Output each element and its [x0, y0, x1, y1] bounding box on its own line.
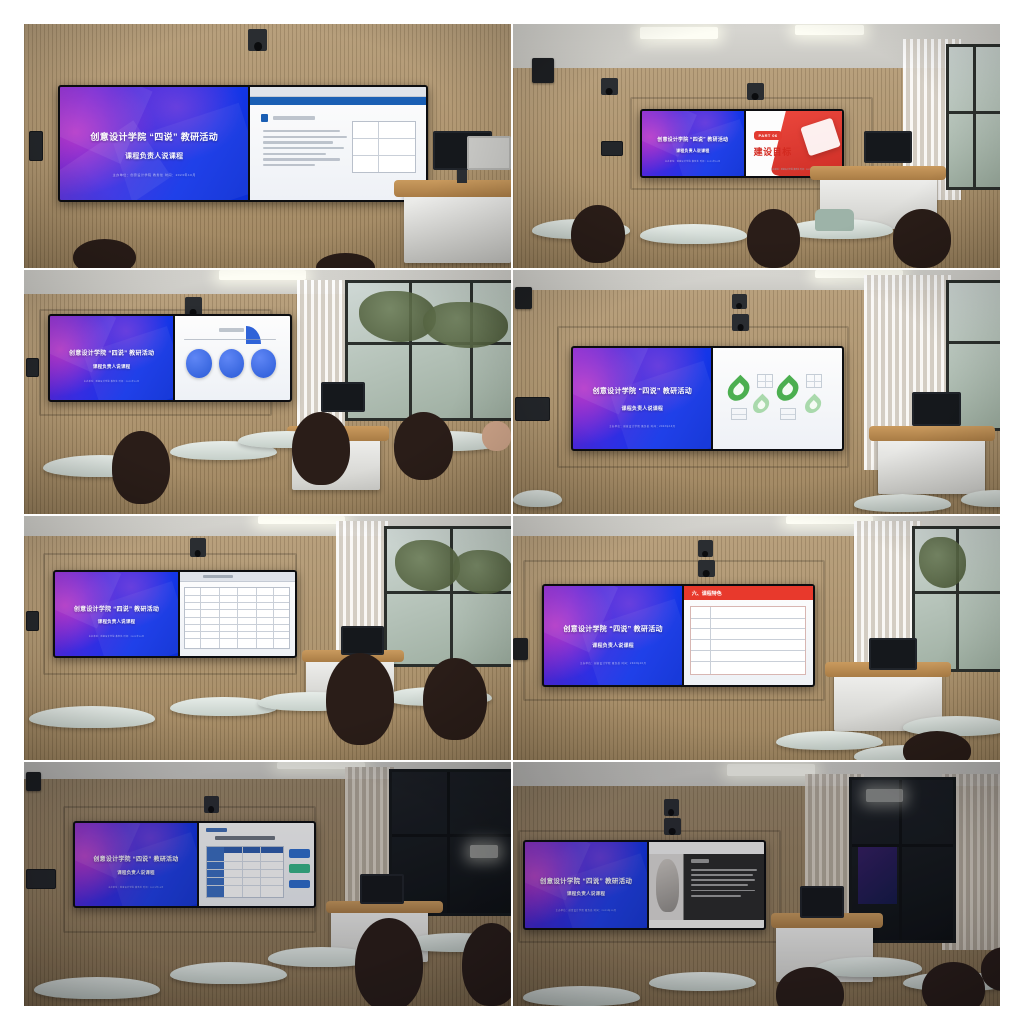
part-badge: PART 06 — [754, 131, 783, 140]
audience-head — [462, 923, 511, 1006]
photo-tile-5[interactable]: 创意设计学院 “四说” 教研活动 课程负责人说课程 主办单位：创意设计学院 教务… — [24, 516, 511, 760]
slide-subheading: 课程负责人说课程 — [642, 148, 744, 154]
podium-top — [394, 180, 511, 197]
ceiling-light-icon — [640, 27, 718, 39]
camera-icon — [664, 818, 681, 835]
wall-control-panel — [29, 131, 44, 160]
slide-footnote: 主办单位：创意设计学院 教务处 时间：2023年10月 — [544, 661, 682, 665]
slide-heading: 创意设计学院 “四说” 教研活动 — [55, 604, 178, 613]
display-wall[interactable]: 创意设计学院 “四说” 教研活动 课程负责人说课程 主办单位：创意设计学院 教务… — [542, 584, 815, 686]
display-panel-left[interactable]: 创意设计学院 “四说” 教研活动 课程负责人说课程 主办单位：创意设计学院 教务… — [573, 348, 713, 449]
wall-control-panel — [26, 869, 55, 889]
slide-heading: 创意设计学院 “四说” 教研活动 — [642, 136, 744, 143]
window — [389, 769, 511, 915]
slide-heading: 创意设计学院 “四说” 教研活动 — [544, 624, 682, 634]
student-desk — [513, 490, 562, 507]
camera-icon — [248, 29, 267, 51]
window — [345, 280, 511, 422]
podium-monitor[interactable] — [912, 392, 961, 426]
ceiling-light-icon — [219, 270, 307, 280]
student-desk — [29, 706, 156, 728]
slide-pill — [289, 864, 310, 872]
podium-monitor[interactable] — [321, 382, 365, 411]
slide-pill — [289, 880, 310, 888]
slide-heading: 创意设计学院 “四说” 教研活动 — [525, 875, 648, 885]
display-wall[interactable]: 创意设计学院 “四说” 教研活动 课程负责人说课程 主办单位：创意设计学院 教务… — [571, 346, 844, 451]
section-heading: 六、课程特色 — [684, 586, 813, 600]
wall-speaker — [515, 287, 532, 309]
camera-icon — [190, 538, 207, 558]
secondary-monitor[interactable] — [467, 136, 511, 170]
audience-head — [423, 658, 486, 741]
student-desk — [854, 494, 951, 511]
title-slide: 创意设计学院 “四说” 教研活动 课程负责人说课程 主办单位：创意设计学院 教务… — [573, 348, 711, 449]
podium-monitor[interactable] — [869, 638, 918, 670]
photo-tile-4[interactable]: 创意设计学院 “四说” 教研活动 课程负责人说课程 主办单位：创意设计学院 教务… — [513, 270, 1000, 514]
slide-heading: 创意设计学院 “四说” 教研活动 — [60, 130, 248, 143]
audience-head — [394, 412, 452, 480]
slide-heading: 创意设计学院 “四说” 教研活动 — [50, 348, 173, 357]
window — [912, 526, 1000, 672]
display-panel-left[interactable]: 创意设计学院 “四说” 教研活动 课程负责人说课程 主办单位：创意设计学院 教务… — [50, 316, 175, 400]
slide-subheading: 课程负责人说课程 — [573, 405, 711, 412]
slide-footnote: 主办单位：创意设计学院 教务处 时间：2023年10月 — [573, 424, 711, 428]
camera-icon — [698, 540, 713, 557]
student-desk — [649, 972, 756, 992]
photo-tile-2[interactable]: 创意设计学院 “四说” 教研活动 课程负责人说课程 主办单位：创意设计学院 教务… — [513, 24, 1000, 268]
display-panel-left[interactable]: 创意设计学院 “四说” 教研活动 课程负责人说课程 主办单位：创意设计学院 教务… — [642, 111, 746, 175]
display-panel-right[interactable]: 六、课程特色 — [684, 586, 813, 684]
podium — [404, 190, 511, 263]
title-slide: 创意设计学院 “四说” 教研活动 课程负责人说课程 主办单位：创意设计学院 教务… — [55, 572, 178, 656]
display-panel-left[interactable]: 创意设计学院 “四说” 教研活动 课程负责人说课程 主办单位：创意设计学院 教务… — [525, 842, 650, 928]
table-slide — [180, 572, 295, 656]
circles-slide — [175, 316, 290, 400]
slide-subheading: 课程负责人说课程 — [55, 619, 178, 625]
ceiling-light-icon — [258, 516, 346, 524]
audience-head — [893, 209, 951, 268]
student-desk — [640, 224, 747, 244]
display-panel-right[interactable] — [713, 348, 842, 449]
podium-monitor[interactable] — [341, 626, 385, 655]
display-panel-right[interactable] — [175, 316, 290, 400]
window — [384, 526, 511, 668]
audience-head — [292, 412, 350, 485]
title-slide: 创意设计学院 “四说” 教研活动 课程负责人说课程 主办单位：创意设计学院 教务… — [642, 111, 744, 175]
camera-icon — [698, 560, 715, 577]
title-slide: 创意设计学院 “四说” 教研活动 课程负责人说课程 主办单位：创意设计学院 教务… — [525, 842, 648, 928]
display-panel-left[interactable]: 创意设计学院 “四说” 教研活动 课程负责人说课程 主办单位：创意设计学院 教务… — [75, 823, 200, 907]
podium-top — [810, 166, 946, 181]
photo-tile-8[interactable]: 创意设计学院 “四说” 教研活动 课程负责人说课程 主办单位：创意设计学院 教务… — [513, 762, 1000, 1006]
slide-subheading: 课程负责人说课程 — [50, 364, 173, 370]
slide-footnote: 主办单位：创意设计学院 教务处 时间：2023年10月 — [75, 886, 198, 889]
display-panel-right[interactable] — [199, 823, 314, 907]
student-desk — [34, 977, 161, 999]
wall-control-panel — [26, 358, 38, 378]
slide-heading: 创意设计学院 “四说” 教研活动 — [573, 386, 711, 396]
slide-subheading: 课程负责人说课程 — [525, 891, 648, 897]
title-slide: 创意设计学院 “四说” 教研活动 课程负责人说课程 主办单位：创意设计学院 教务… — [50, 316, 173, 400]
display-wall[interactable]: 创意设计学院 “四说” 教研活动 课程负责人说课程 主办单位：创意设计学院 教务… — [53, 570, 297, 658]
camera-icon — [664, 799, 679, 816]
podium-monitor[interactable] — [864, 131, 913, 163]
display-wall[interactable]: 创意设计学院 “四说” 教研活动 课程负责人说课程 主办单位：创意设计学院 教务… — [58, 85, 428, 202]
blue-table-slide — [199, 823, 314, 907]
camera-icon — [204, 796, 219, 813]
title-slide: 创意设计学院 “四说” 教研活动 课程负责人说课程 主办单位：创意设计学院 教务… — [75, 823, 198, 907]
display-panel-left[interactable]: 创意设计学院 “四说” 教研活动 课程负责人说课程 主办单位：创意设计学院 教务… — [60, 87, 250, 200]
wall-control-panel — [26, 611, 39, 631]
wall-control-panel — [601, 141, 623, 156]
droplets-slide — [713, 348, 842, 449]
display-panel-right[interactable] — [180, 572, 295, 656]
display-panel-left[interactable]: 创意设计学院 “四说” 教研活动 课程负责人说课程 主办单位：创意设计学院 教务… — [544, 586, 684, 684]
wall-speaker — [532, 58, 554, 82]
slide-footnote: 主办单位：创意设计学院 教务处 时间：2023年10月 — [50, 380, 173, 383]
podium — [878, 436, 985, 495]
slide-subheading: 课程负责人说课程 — [60, 151, 248, 161]
window — [946, 44, 1000, 190]
display-panel-left[interactable]: 创意设计学院 “四说” 教研活动 课程负责人说课程 主办单位：创意设计学院 教务… — [55, 572, 180, 656]
section-table-slide: 六、课程特色 — [684, 586, 813, 684]
podium-top — [869, 426, 996, 441]
slide-subheading: 课程负责人说课程 — [544, 642, 682, 649]
wall-speaker — [26, 772, 41, 792]
slide-pill — [289, 849, 310, 857]
photo-tile-1[interactable]: 创意设计学院 “四说” 教研活动 课程负责人说课程 主办单位：创意设计学院 教务… — [24, 24, 511, 268]
podium-monitor[interactable] — [800, 886, 844, 918]
slide-heading: 创意设计学院 “四说” 教研活动 — [75, 854, 198, 863]
student-desk — [170, 962, 287, 984]
wall-control-panel — [515, 397, 549, 421]
audience-head — [112, 431, 170, 504]
wall-speaker — [513, 638, 528, 660]
audience-head — [571, 205, 625, 264]
camera-icon — [747, 83, 764, 100]
part-title: 建设目标 — [754, 145, 792, 158]
camera-icon — [732, 314, 749, 331]
photo-tile-6[interactable]: 创意设计学院 “四说” 教研活动 课程负责人说课程 主办单位：创意设计学院 教务… — [513, 516, 1000, 760]
photo-tile-7[interactable]: 创意设计学院 “四说” 教研活动 课程负责人说课程 主办单位：创意设计学院 教务… — [24, 762, 511, 1006]
slide-footnote: 主办单位：创意设计学院 教务处 时间：2023年10月 — [55, 635, 178, 638]
audience-head — [482, 421, 511, 450]
student-desk — [776, 731, 883, 751]
camera-icon — [601, 78, 618, 95]
artwork-slide — [649, 842, 764, 928]
display-wall[interactable]: 创意设计学院 “四说” 教研活动 课程负责人说课程 主办单位：创意设计学院 教务… — [523, 840, 767, 930]
display-panel-right[interactable] — [649, 842, 764, 928]
slide-footnote: 主办单位：创意设计学院 教务处 时间：2023年10月 — [60, 173, 248, 177]
audience-head — [355, 918, 423, 1006]
podium-monitor[interactable] — [360, 874, 404, 903]
slide-subheading: 课程负责人说课程 — [75, 870, 198, 876]
student-desk — [523, 986, 640, 1006]
photo-collage: 创意设计学院 “四说” 教研活动 课程负责人说课程 主办单位：创意设计学院 教务… — [24, 24, 1000, 1000]
title-slide: 创意设计学院 “四说” 教研活动 课程负责人说课程 主办单位：创意设计学院 教务… — [60, 87, 248, 200]
title-slide: 创意设计学院 “四说” 教研活动 课程负责人说课程 主办单位：创意设计学院 教务… — [544, 586, 682, 684]
audience-head — [326, 653, 394, 746]
display-wall[interactable]: 创意设计学院 “四说” 教研活动 课程负责人说课程 主办单位：创意设计学院 教务… — [48, 314, 292, 402]
photo-tile-3[interactable]: 创意设计学院 “四说” 教研活动 课程负责人说课程 主办单位：创意设计学院 教务… — [24, 270, 511, 514]
display-wall[interactable]: 创意设计学院 “四说” 教研活动 课程负责人说课程 主办单位：创意设计学院 教务… — [73, 821, 317, 909]
slide-footnote: 主办单位：创意设计学院 教务处 时间：2023年10月 — [525, 908, 648, 912]
slide-footnote: 主办单位：创意设计学院 教务处 时间：2023年10月 — [642, 160, 744, 163]
ceiling-light-icon — [727, 764, 815, 776]
ceiling-light-icon — [795, 25, 863, 35]
camera-icon — [732, 294, 747, 309]
audience-head — [747, 209, 801, 268]
